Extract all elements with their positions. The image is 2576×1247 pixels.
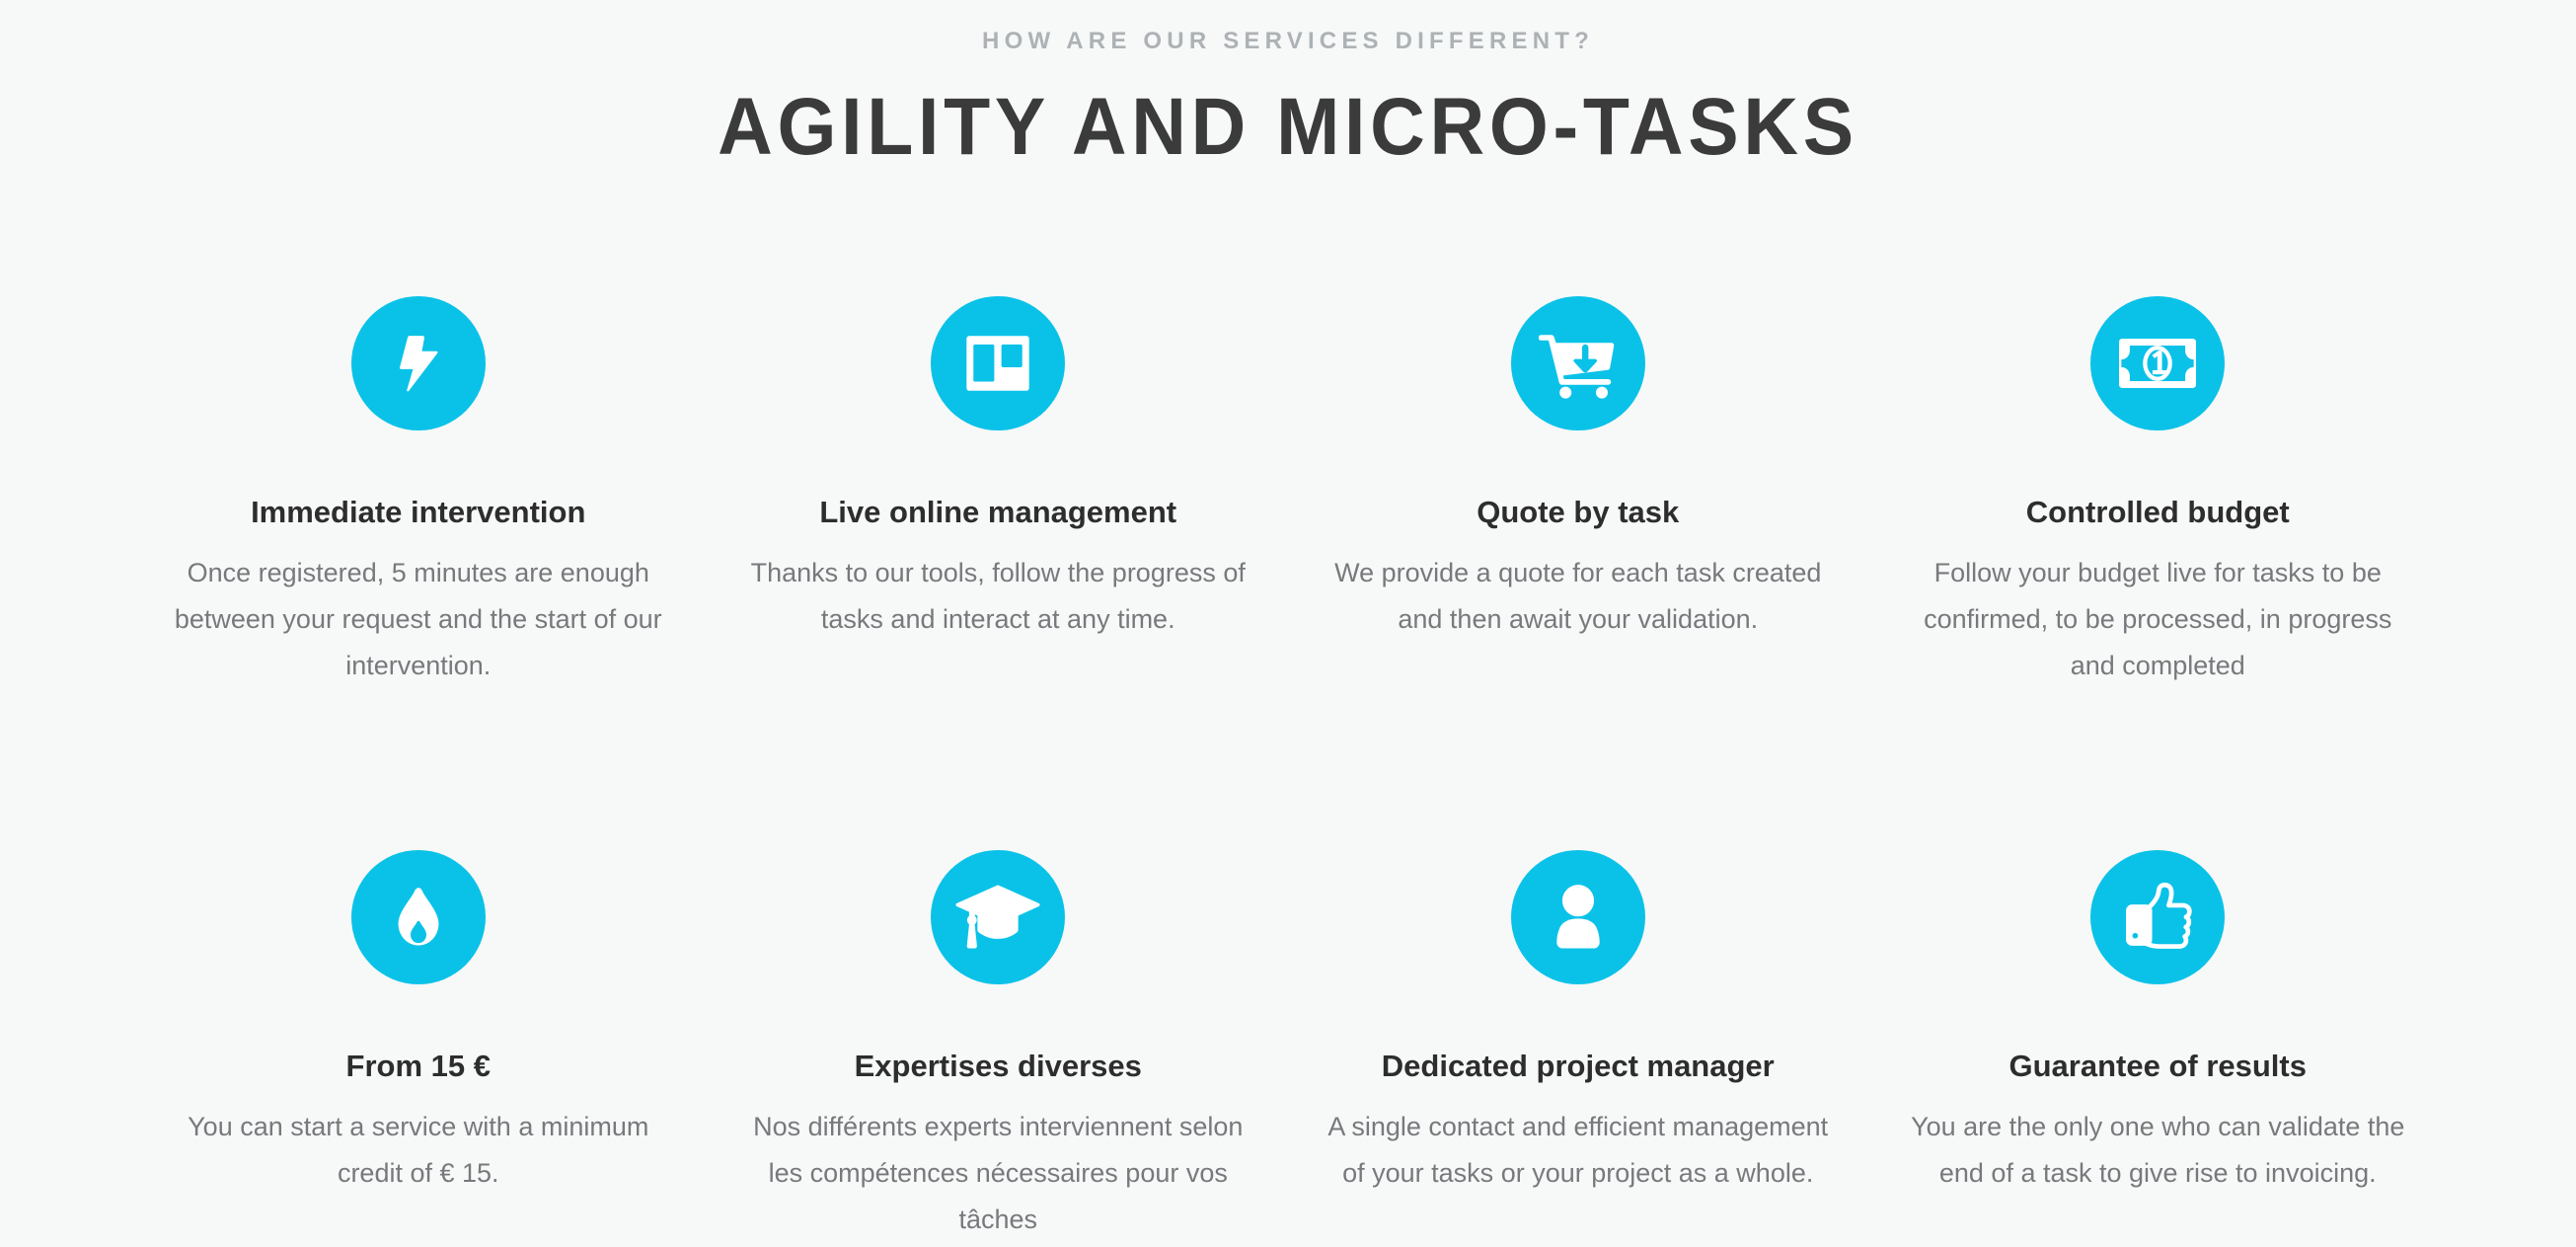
feature-card-controlled-budget: Controlled budget Follow your budget liv… [1868, 296, 2449, 689]
feature-description: Once registered, 5 minutes are enough be… [162, 550, 675, 689]
graduation-cap-icon [931, 850, 1065, 984]
feature-title: Live online management [819, 494, 1176, 530]
feature-card-quote-by-task: Quote by task We provide a quote for eac… [1288, 296, 1868, 689]
user-person-icon [1511, 850, 1645, 984]
feature-title: Dedicated project manager [1382, 1048, 1775, 1084]
feature-description: You are the only one who can validate th… [1901, 1104, 2414, 1197]
kanban-board-icon [931, 296, 1065, 430]
feature-title: Controlled budget [2026, 494, 2290, 530]
banknote-icon [2090, 296, 2225, 430]
shopping-cart-download-icon [1511, 296, 1645, 430]
feature-title: Expertises diverses [855, 1048, 1142, 1084]
feature-title: Quote by task [1477, 494, 1679, 530]
services-section: HOW ARE OUR SERVICES DIFFERENT? AGILITY … [0, 0, 2576, 1247]
feature-description: Follow your budget live for tasks to be … [1901, 550, 2414, 689]
feature-grid: Immediate intervention Once registered, … [0, 296, 2576, 1243]
feature-card-dedicated-project-manager: Dedicated project manager A single conta… [1288, 689, 1868, 1243]
feature-description: Thanks to our tools, follow the progress… [741, 550, 1254, 643]
water-drop-icon [351, 850, 486, 984]
feature-description: You can start a service with a minimum c… [162, 1104, 675, 1197]
thumbs-up-icon [2090, 850, 2225, 984]
section-eyebrow: HOW ARE OUR SERVICES DIFFERENT? [0, 0, 2576, 53]
feature-description: We provide a quote for each task created… [1322, 550, 1835, 643]
lightning-bolt-icon [351, 296, 486, 430]
feature-title: From 15 € [346, 1048, 491, 1084]
feature-card-immediate-intervention: Immediate intervention Once registered, … [128, 296, 709, 689]
feature-description: A single contact and efficient managemen… [1322, 1104, 1835, 1197]
feature-card-live-online-management: Live online management Thanks to our too… [709, 296, 1289, 689]
page-title: AGILITY AND MICRO-TASKS [77, 85, 2498, 170]
feature-card-expertises-diverses: Expertises diverses Nos différents exper… [709, 689, 1289, 1243]
feature-card-guarantee-of-results: Guarantee of results You are the only on… [1868, 689, 2449, 1243]
feature-title: Immediate intervention [251, 494, 585, 530]
feature-description: Nos différents experts interviennent sel… [741, 1104, 1254, 1243]
feature-card-from-15-eur: From 15 € You can start a service with a… [128, 689, 709, 1243]
feature-title: Guarantee of results [2009, 1048, 2307, 1084]
